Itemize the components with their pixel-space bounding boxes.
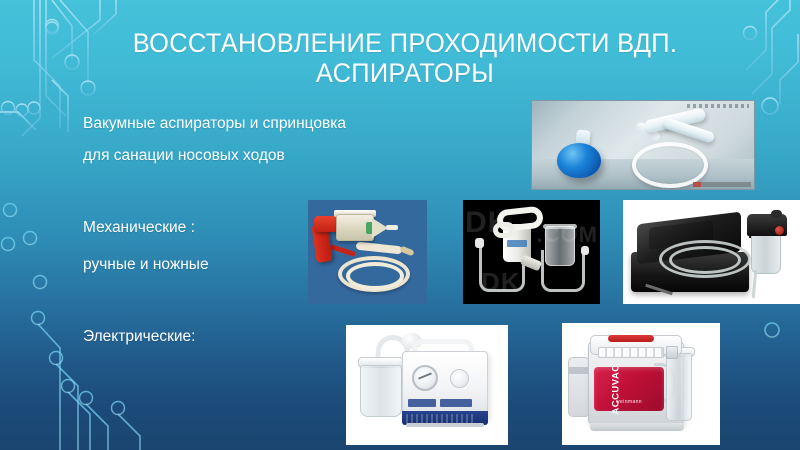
image-bulb-syringe (531, 100, 755, 190)
accuvac-brand-text: ACCUVAC (611, 364, 622, 414)
foot-aspirator-hose-inner (669, 246, 741, 274)
electric-aspirator-label-right (440, 399, 472, 407)
accuvac-carry-grip (608, 335, 654, 342)
hand-pump-tube-cap-left (475, 238, 484, 248)
image-accuvac-unit: ACCUVAC weinmann (562, 323, 720, 445)
circuit-traces-mid-left (0, 208, 18, 330)
hand-pump-collection-cup (545, 226, 575, 266)
body-line-1: Вакумные аспираторы и спринцовка (83, 108, 346, 140)
circuit-node-icon (46, 20, 59, 33)
presentation-slide: Восстановление проходимости ВДП. Аспират… (0, 0, 800, 450)
electric-aspirator-pressure-gauge (412, 365, 438, 391)
foot-aspirator-drop-tube (752, 270, 757, 298)
bulb-syringe-bulb (557, 143, 601, 178)
bulb-photo-watermark (693, 182, 751, 187)
image-manual-pump (308, 200, 427, 304)
manual-pump-tube-inner (346, 262, 404, 290)
hand-pump-label (507, 240, 527, 247)
foot-aspirator-jar (751, 232, 781, 274)
image-foot-pedal-aspirator (623, 200, 800, 304)
body-line-5-electric-heading: Электрические: (83, 321, 195, 353)
circuit-nodes-bottom-right (765, 323, 779, 337)
hand-pump-tube-cap-right (581, 246, 589, 255)
electric-aspirator-control-dial[interactable] (450, 369, 469, 388)
accuvac-base-foot (590, 423, 684, 431)
hand-pump-trigger (493, 222, 515, 238)
circuit-traces-bottom-right (772, 338, 788, 450)
image-hand-suction-pump: DK.COMDK (463, 200, 600, 304)
circuit-traces-top-right (746, 0, 798, 104)
accuvac-display (666, 346, 678, 359)
foot-aspirator-jar-knob (771, 210, 782, 218)
accuvac-collection-jar (666, 353, 692, 421)
manual-pump-cone-tip (386, 225, 398, 230)
body-line-3-mechanical-heading: Механические : (83, 212, 195, 244)
body-line-4-mechanical-types: ручные и ножные (83, 249, 209, 281)
foot-aspirator-red-indicator (775, 226, 784, 235)
slide-title: Восстановление проходимости ВДП. Аспират… (74, 28, 736, 88)
accuvac-keypad[interactable] (598, 347, 664, 358)
bulb-photo-watermark-top (687, 104, 749, 108)
body-line-2: для санации носовых ходов (83, 140, 285, 172)
accuvac-side-strap (568, 367, 590, 374)
accuvac-side-battery (568, 357, 590, 417)
electric-aspirator-foot (406, 423, 484, 427)
electric-aspirator-label-left (408, 399, 436, 407)
image-electric-aspirator (346, 325, 508, 445)
manual-pump-tube-straight (356, 242, 403, 255)
electric-aspirator-jar (360, 365, 402, 417)
manual-pump-red-connector (330, 244, 356, 257)
accuvac-sub-brand: weinmann (616, 399, 642, 405)
manual-pump-tube-tip (399, 246, 414, 257)
